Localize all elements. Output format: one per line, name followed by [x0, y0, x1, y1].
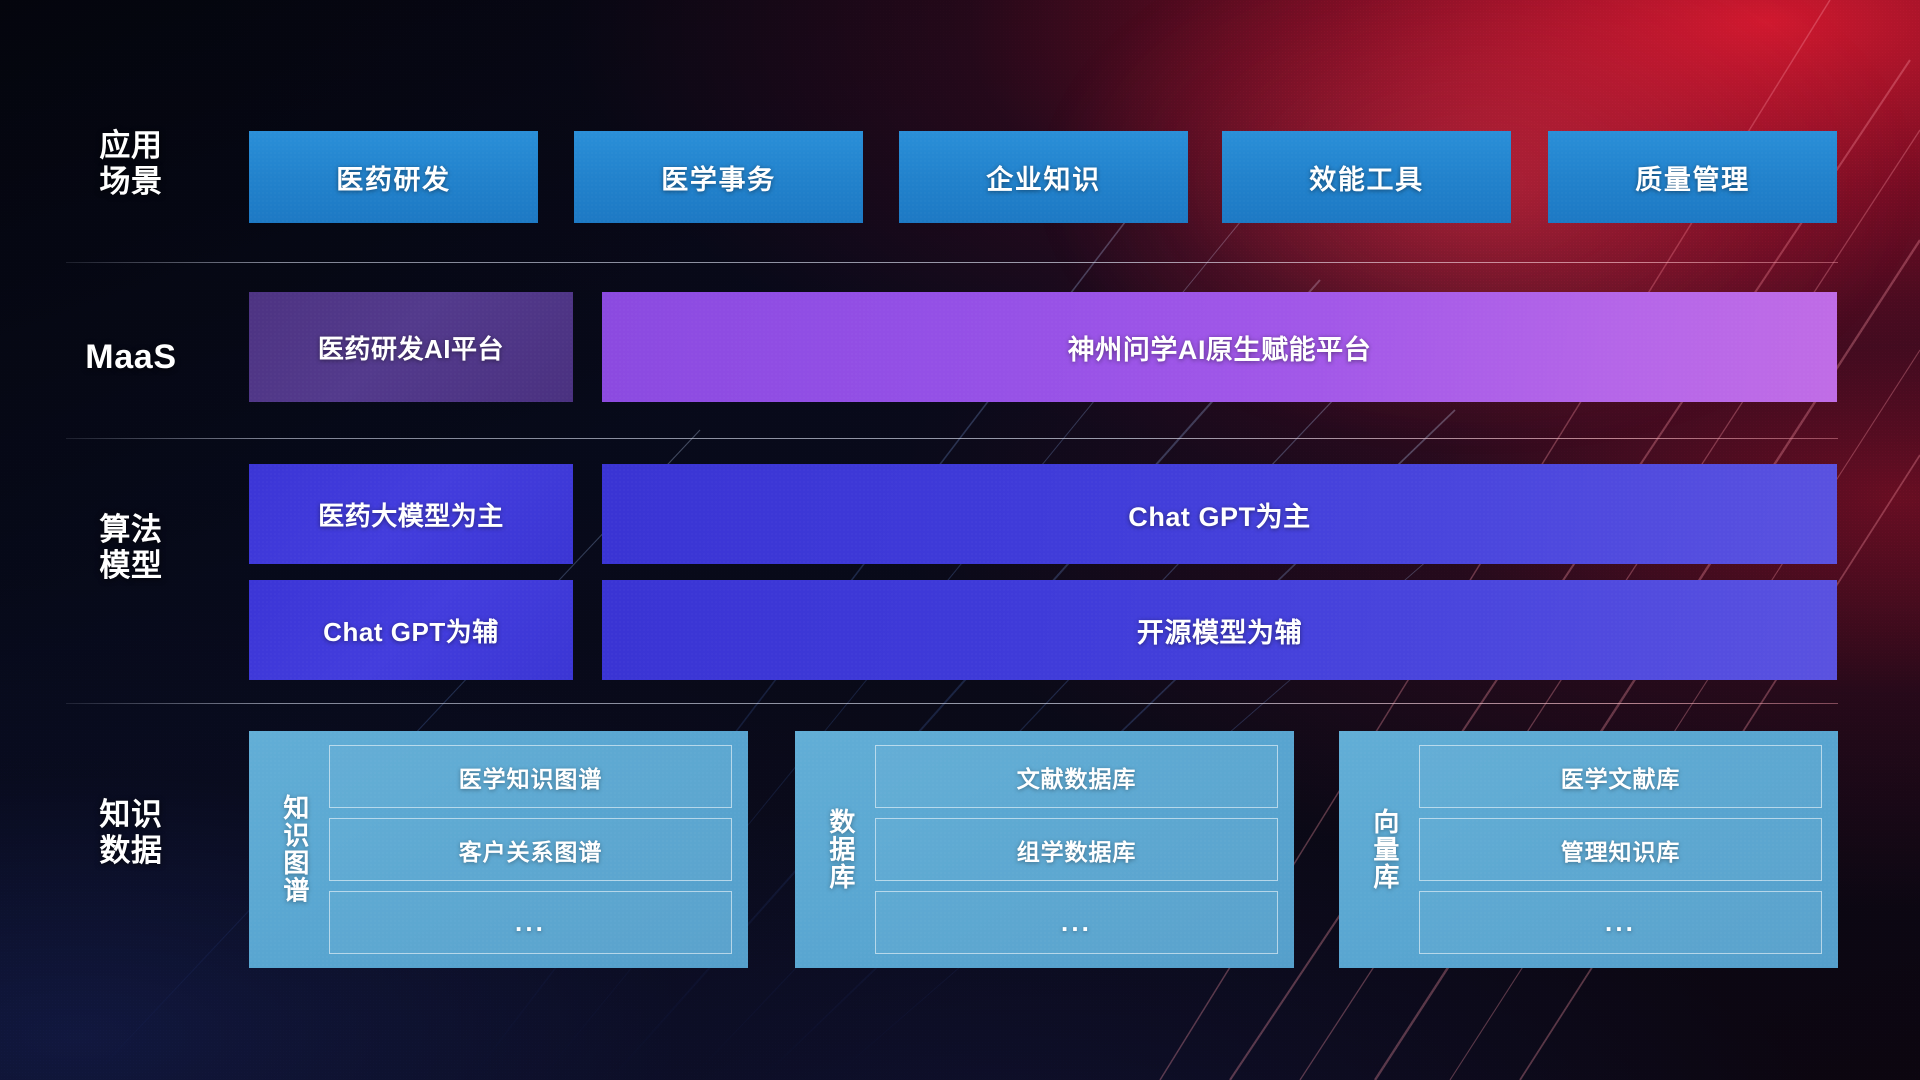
knowledge-group-0-items: 医学知识图谱 客户关系图谱 ... [329, 745, 732, 954]
algo-box-row1-right[interactable]: 开源模型为辅 [602, 580, 1837, 680]
app-box-2[interactable]: 企业知识 [899, 131, 1188, 223]
knowledge-item[interactable]: 文献数据库 [875, 745, 1278, 808]
app-box-0[interactable]: 医药研发 [249, 131, 538, 223]
knowledge-group-2-title: 向量库 [1349, 745, 1419, 954]
knowledge-group-1[interactable]: 数据库 文献数据库 组学数据库 ... [795, 731, 1294, 968]
divider-algorithm-knowledge [66, 703, 1838, 704]
divider-maas-algorithm [66, 438, 1838, 439]
knowledge-item-more[interactable]: ... [329, 891, 732, 954]
knowledge-item[interactable]: 医学知识图谱 [329, 745, 732, 808]
knowledge-group-0-title: 知识图谱 [259, 745, 329, 954]
knowledge-group-2-items: 医学文献库 管理知识库 ... [1419, 745, 1822, 954]
knowledge-group-1-items: 文献数据库 组学数据库 ... [875, 745, 1278, 954]
algo-box-row1-left[interactable]: Chat GPT为辅 [249, 580, 573, 680]
row-label-application: 应用 场景 [66, 128, 196, 200]
maas-right-box[interactable]: 神州问学AI原生赋能平台 [602, 292, 1837, 402]
app-box-3[interactable]: 效能工具 [1222, 131, 1511, 223]
knowledge-item-more[interactable]: ... [1419, 891, 1822, 954]
knowledge-item-more[interactable]: ... [875, 891, 1278, 954]
knowledge-item[interactable]: 组学数据库 [875, 818, 1278, 881]
knowledge-group-2[interactable]: 向量库 医学文献库 管理知识库 ... [1339, 731, 1838, 968]
knowledge-group-0[interactable]: 知识图谱 医学知识图谱 客户关系图谱 ... [249, 731, 748, 968]
algo-box-row0-right[interactable]: Chat GPT为主 [602, 464, 1837, 564]
knowledge-item[interactable]: 客户关系图谱 [329, 818, 732, 881]
knowledge-item[interactable]: 管理知识库 [1419, 818, 1822, 881]
knowledge-group-1-title: 数据库 [805, 745, 875, 954]
knowledge-item[interactable]: 医学文献库 [1419, 745, 1822, 808]
algo-box-row0-left[interactable]: 医药大模型为主 [249, 464, 573, 564]
maas-left-box[interactable]: 医药研发AI平台 [249, 292, 573, 402]
divider-application-maas [66, 262, 1838, 263]
app-box-4[interactable]: 质量管理 [1548, 131, 1837, 223]
architecture-diagram: 应用 场景 医药研发 医学事务 企业知识 效能工具 质量管理 MaaS 医药研发… [0, 0, 1920, 1080]
row-label-algorithm: 算法 模型 [66, 512, 196, 584]
row-label-maas: MaaS [66, 338, 196, 377]
app-box-1[interactable]: 医学事务 [574, 131, 863, 223]
row-label-knowledge: 知识 数据 [66, 797, 196, 869]
